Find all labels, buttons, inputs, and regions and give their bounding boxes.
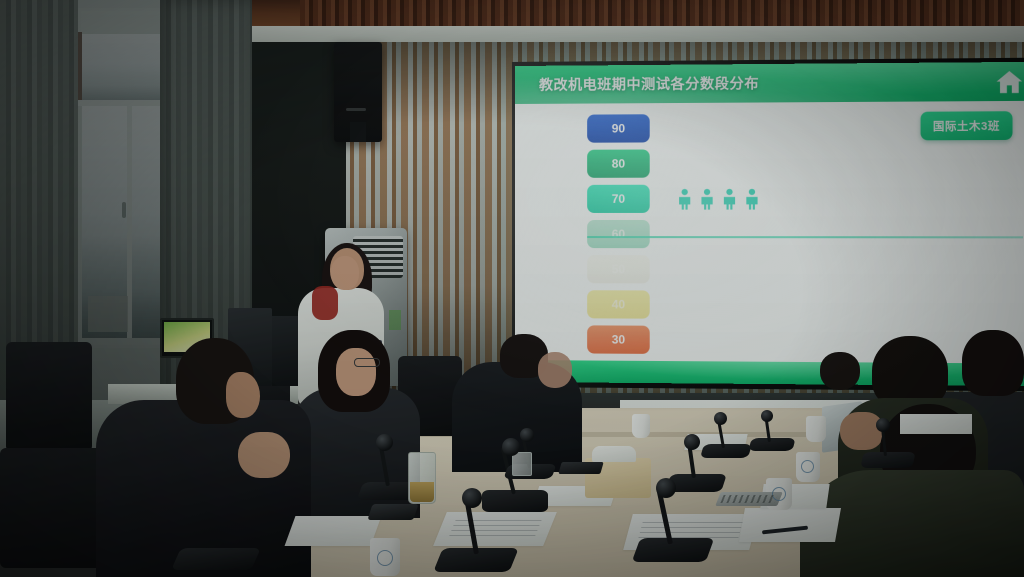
projection-screen[interactable]: 教改机电班期中测试各分数段分布 国际土木3班 90 80 70: [515, 62, 1024, 386]
microphone-head: [520, 428, 534, 442]
band-chip-40[interactable]: 40: [587, 290, 650, 318]
microphone-base[interactable]: [171, 548, 261, 570]
attendee-front-left-man-hands: [238, 432, 290, 478]
tea-liquid: [410, 482, 434, 502]
eyeglasses: [354, 358, 380, 367]
chair[interactable]: [6, 342, 92, 452]
microphone-base[interactable]: [700, 444, 752, 458]
smartphone[interactable]: [367, 504, 418, 520]
band-chip-70[interactable]: 70: [587, 185, 650, 213]
band-row-80: 80: [587, 147, 1019, 179]
cup-logo: [377, 550, 393, 566]
conference-room-scene: 教改机电班期中测试各分数段分布 国际土木3班 90 80 70: [0, 0, 1024, 577]
band-row-50: 50: [587, 254, 1019, 285]
microphone-head: [656, 478, 676, 498]
band-chip-30[interactable]: 30: [587, 325, 650, 354]
band-row-40: 40: [587, 289, 1019, 321]
attendee-far-right-man-head: [962, 330, 1024, 396]
attendee-rear-head: [820, 352, 860, 390]
smartphone[interactable]: [558, 462, 603, 474]
band-row-70: 70: [587, 183, 1019, 214]
document-lines: [448, 520, 541, 538]
band-row-30: 30: [587, 324, 1019, 357]
microphone-base[interactable]: [860, 452, 915, 468]
person-icon: [678, 188, 691, 209]
attendee-front-left-man-face: [226, 372, 260, 418]
speaker-port: [346, 108, 366, 111]
microphone-head: [502, 438, 520, 456]
band-row-90: 90: [587, 111, 1019, 144]
person-icon: [723, 188, 736, 209]
band-chip-90[interactable]: 90: [587, 114, 650, 142]
paper-cup[interactable]: [806, 416, 826, 442]
microphone-base[interactable]: [632, 538, 715, 562]
microphone-head: [684, 434, 700, 450]
home-icon[interactable]: [994, 66, 1024, 97]
band-people-70: [678, 188, 759, 209]
document-paper[interactable]: [739, 508, 841, 542]
presenter-face: [331, 256, 359, 290]
document-paper[interactable]: [285, 516, 382, 546]
drinking-glass[interactable]: [512, 452, 532, 476]
microphone-head: [714, 412, 727, 425]
slide-header-bar: 教改机电班期中测试各分数段分布: [515, 62, 1024, 104]
microphone-head: [761, 410, 773, 422]
microphone-base[interactable]: [748, 438, 795, 451]
slide-title: 教改机电班期中测试各分数段分布: [539, 73, 759, 95]
band-row-60: 60: [587, 219, 1019, 250]
paper-cup[interactable]: [632, 414, 650, 438]
microphone-head: [376, 434, 393, 451]
speaker-mount: [350, 122, 366, 142]
ceiling-wood-slats: [300, 0, 1024, 26]
attendee-center-man-hand: [538, 352, 572, 388]
attendee-woman-glasses-face: [336, 348, 376, 396]
attendee-hands: [840, 412, 884, 450]
presenter-scarf: [312, 286, 338, 320]
tissue-box-sheet: [592, 446, 636, 462]
person-icon: [745, 188, 758, 209]
band-chip-50[interactable]: 50: [587, 255, 650, 283]
cup-logo: [801, 460, 814, 473]
microphone-head: [462, 488, 482, 508]
chart-divider-line: [587, 236, 1023, 238]
microphone-head: [876, 418, 890, 432]
document-paper[interactable]: [900, 414, 972, 434]
band-chip-80[interactable]: 80: [587, 149, 650, 177]
remote-control-keys: [720, 495, 777, 503]
person-icon: [700, 188, 713, 209]
band-chip-60[interactable]: 60: [587, 220, 650, 248]
